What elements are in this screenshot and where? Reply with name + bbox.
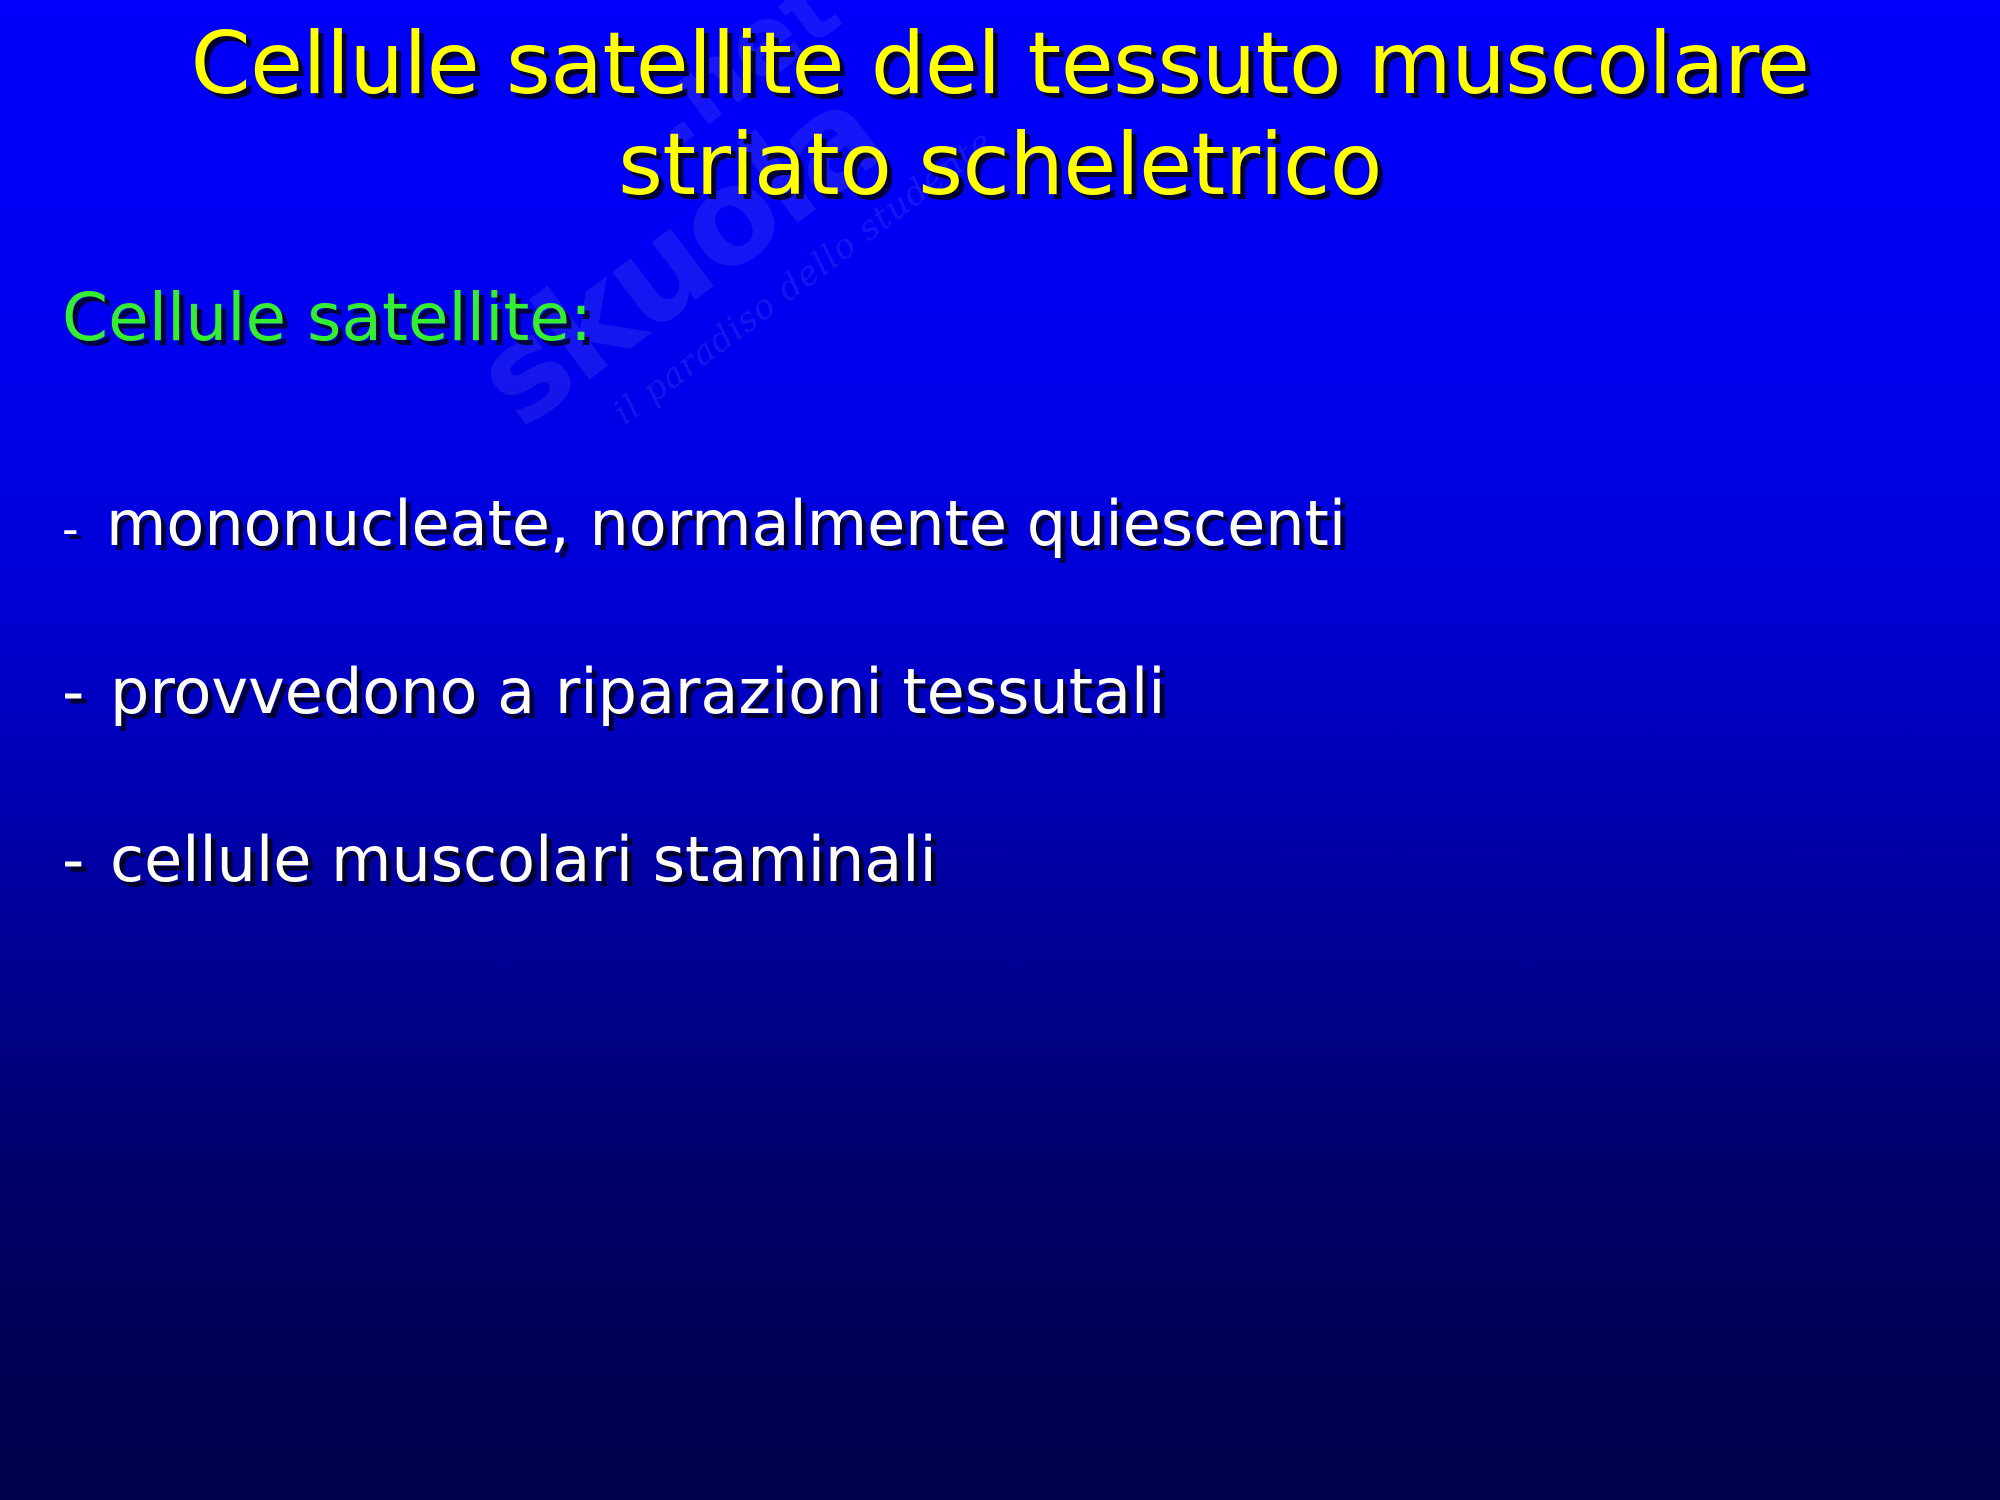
bullet-item-2: - provvedono a riparazioni tessutali [62, 655, 1165, 728]
bullet-item-1: - mononucleate, normalmente quiescenti [62, 487, 1346, 560]
presentation-slide: skuola .net il paradiso dello studente C… [0, 0, 2000, 1500]
bullet-marker: - [62, 823, 110, 896]
subheading-cellule-satellite: Cellule satellite: [62, 282, 592, 355]
slide-body: Cellule satellite: - mononucleate, norma… [0, 0, 2000, 1500]
bullet-text: provvedono a riparazioni tessutali [110, 655, 1165, 728]
bullet-marker: - [62, 502, 106, 556]
bullet-item-3: - cellule muscolari staminali [62, 823, 937, 896]
bullet-text: mononucleate, normalmente quiescenti [106, 487, 1346, 560]
bullet-marker: - [62, 655, 110, 728]
bullet-text: cellule muscolari staminali [110, 823, 937, 896]
